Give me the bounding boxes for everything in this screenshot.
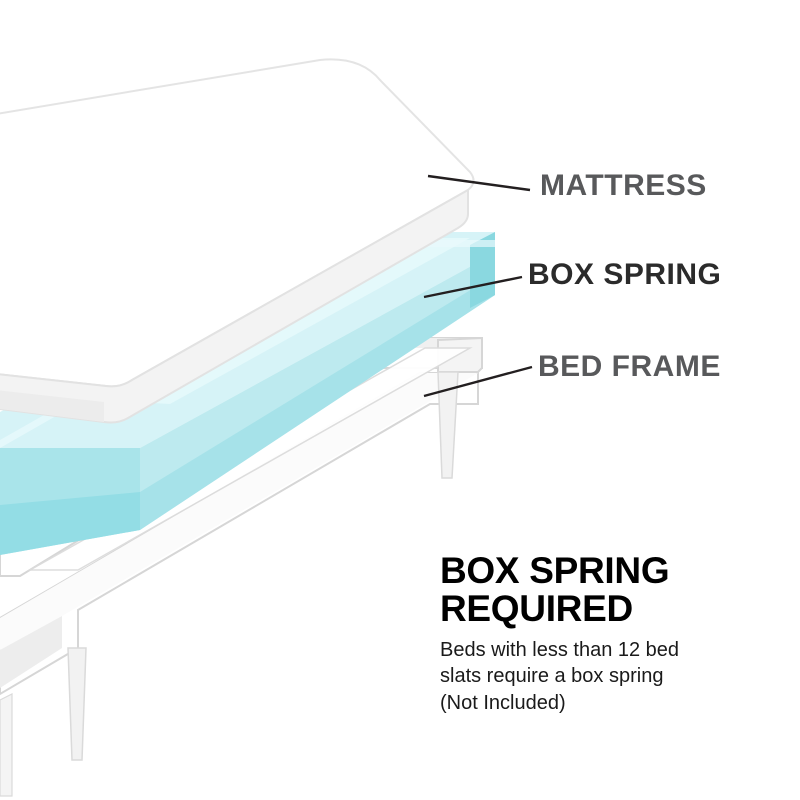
promo-body-line-3: (Not Included) [440, 690, 785, 716]
promo-title: BOX SPRING REQUIRED [440, 552, 785, 629]
promo-body: Beds with less than 12 bed slats require… [440, 637, 785, 716]
callout-label-mattress: MATTRESS [540, 169, 707, 203]
promo-body-line-1: Beds with less than 12 bed [440, 637, 785, 663]
frame-leg-far-left [0, 694, 12, 796]
frame-leg-front [68, 648, 86, 760]
promo-title-line-2: REQUIRED [440, 590, 785, 628]
promo-body-line-2: slats require a box spring [440, 663, 785, 689]
product-infographic: MATTRESS BOX SPRING BED FRAME BOX SPRING… [0, 0, 800, 800]
promo-title-line-1: BOX SPRING [440, 552, 785, 590]
promo-text-block: BOX SPRING REQUIRED Beds with less than … [440, 552, 785, 716]
callout-label-bed-frame: BED FRAME [538, 350, 721, 384]
callout-label-box-spring: BOX SPRING [528, 258, 721, 292]
